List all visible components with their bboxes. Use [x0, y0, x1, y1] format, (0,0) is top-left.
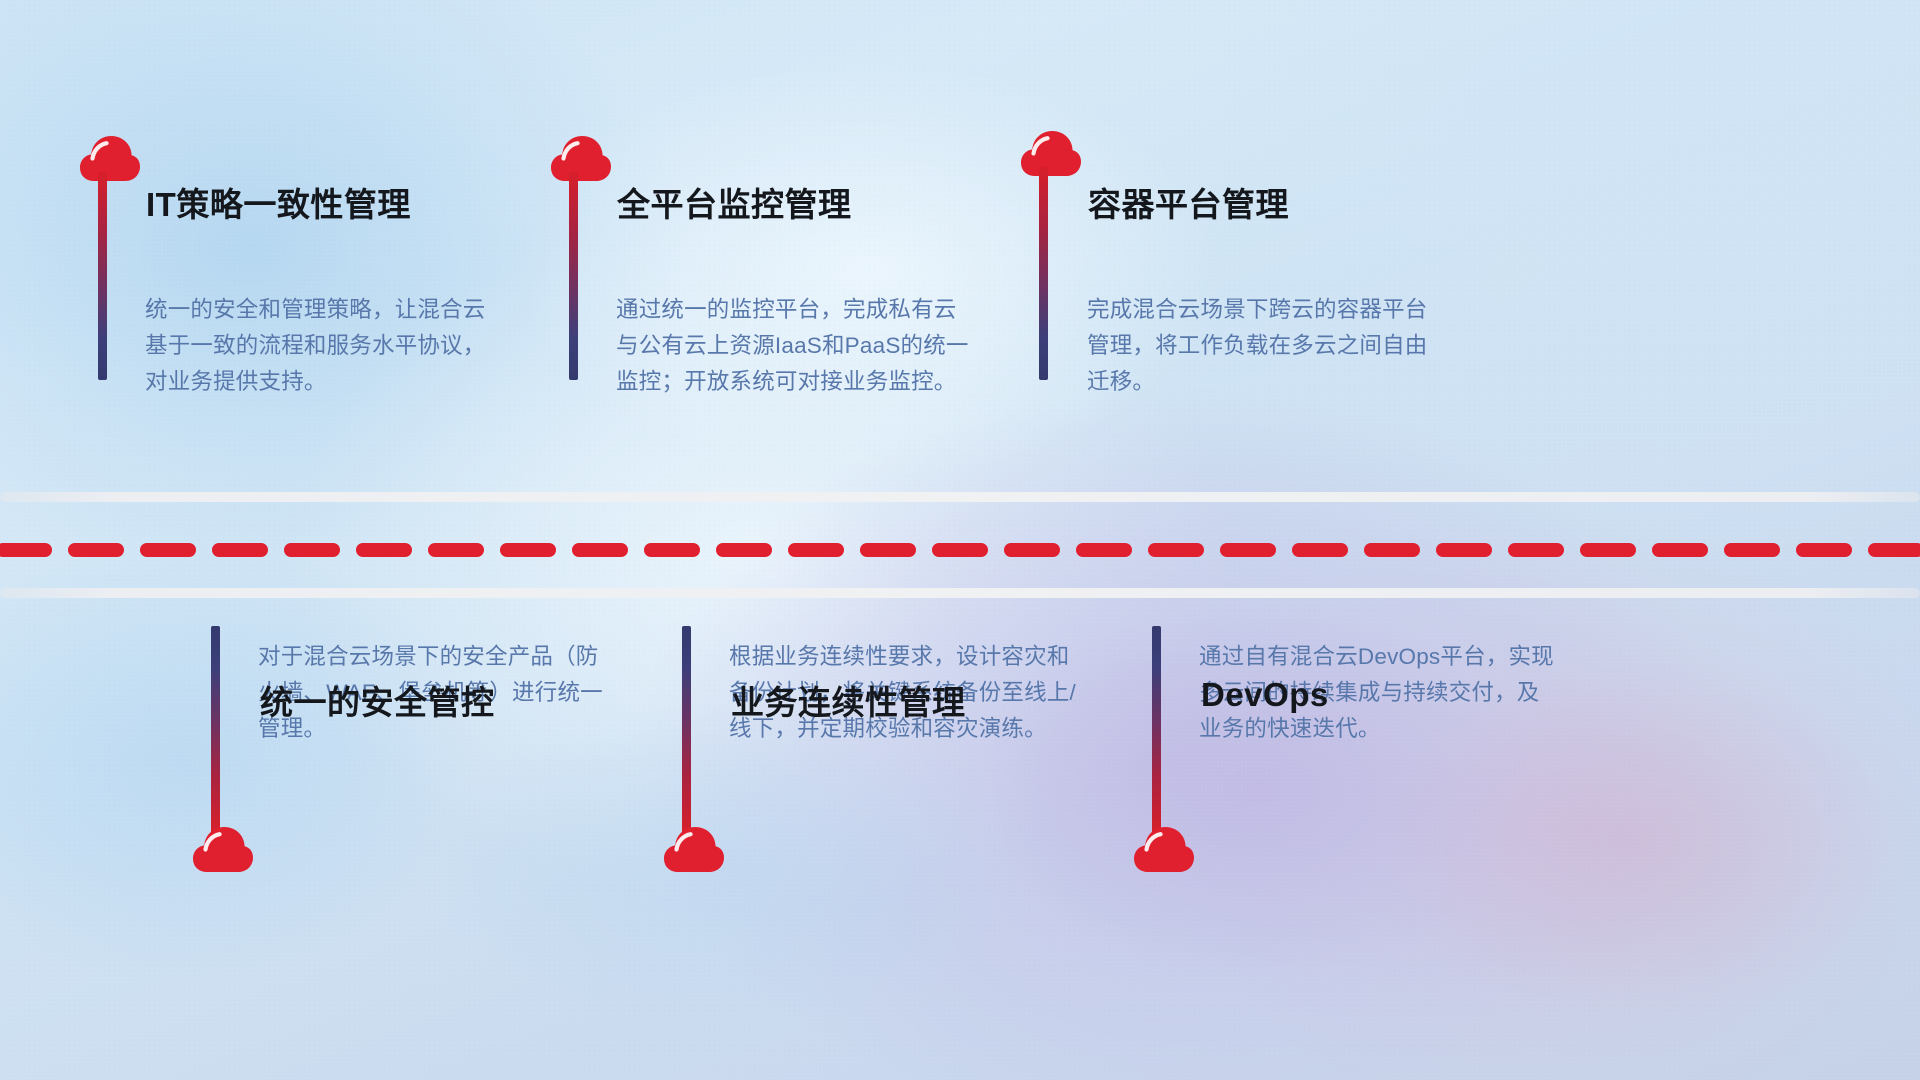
cloud-icon: [78, 131, 142, 183]
dash-segment: [1004, 543, 1060, 557]
dash-segment: [1220, 543, 1276, 557]
connector-stem: [1039, 167, 1048, 380]
decorative-blob-highlight: [520, 60, 1220, 480]
column-title: 全平台监控管理: [617, 178, 852, 226]
dash-segment: [1076, 543, 1132, 557]
dash-segment: [1724, 543, 1780, 557]
dash-segment: [1508, 543, 1564, 557]
cloud-icon: [662, 822, 726, 874]
connector-stem: [569, 172, 578, 380]
connector-stem: [98, 172, 107, 380]
divider-bar-bottom: [0, 588, 1920, 598]
dash-segment: [932, 543, 988, 557]
dash-segment: [284, 543, 340, 557]
red-dashed-separator: [0, 543, 1920, 557]
cloud-icon: [1019, 126, 1083, 178]
dash-segment: [644, 543, 700, 557]
decorative-blob-blue: [420, 700, 1040, 1030]
dash-segment: [572, 543, 628, 557]
dash-segment: [140, 543, 196, 557]
dash-segment: [1580, 543, 1636, 557]
dash-segment: [68, 543, 124, 557]
dash-segment: [788, 543, 844, 557]
dash-segment: [0, 543, 52, 557]
column-body-text: 统一的安全和管理策略，让混合云基于一致的流程和服务水平协议，对业务提供支持。: [145, 292, 505, 400]
column-title: 容器平台管理: [1088, 178, 1289, 226]
connector-stem: [211, 626, 220, 834]
dash-segment: [428, 543, 484, 557]
dash-segment: [1292, 543, 1348, 557]
column-body-text: 完成混合云场景下跨云的容器平台管理，将工作负载在多云之间自由迁移。: [1087, 292, 1447, 400]
dash-segment: [356, 543, 412, 557]
column-body-text: 通过统一的监控平台，完成私有云与公有云上资源IaaS和PaaS的统一监控；开放系…: [616, 292, 976, 400]
dash-segment: [1148, 543, 1204, 557]
cloud-icon: [191, 822, 255, 874]
dash-segment: [716, 543, 772, 557]
dash-segment: [1652, 543, 1708, 557]
dash-segment: [1868, 543, 1920, 557]
dash-segment: [1796, 543, 1852, 557]
column-title: IT策略一致性管理: [146, 178, 411, 226]
infographic-canvas: IT策略一致性管理 统一的安全和管理策略，让混合云基于一致的流程和服务水平协议，…: [0, 0, 1920, 1080]
cloud-icon: [549, 131, 613, 183]
dash-segment: [500, 543, 556, 557]
column-title: 统一的安全管控: [260, 676, 495, 724]
column-title: 业务连续性管理: [731, 676, 966, 724]
background-grain-texture: [0, 0, 1920, 1080]
column-title: DevOps: [1201, 676, 1329, 714]
dash-segment: [1436, 543, 1492, 557]
dash-segment: [212, 543, 268, 557]
dash-segment: [860, 543, 916, 557]
dash-segment: [1364, 543, 1420, 557]
connector-stem: [682, 626, 691, 834]
decorative-blob-left: [0, 540, 480, 980]
connector-stem: [1152, 626, 1161, 834]
divider-bar-top: [0, 492, 1920, 502]
cloud-icon: [1132, 822, 1196, 874]
